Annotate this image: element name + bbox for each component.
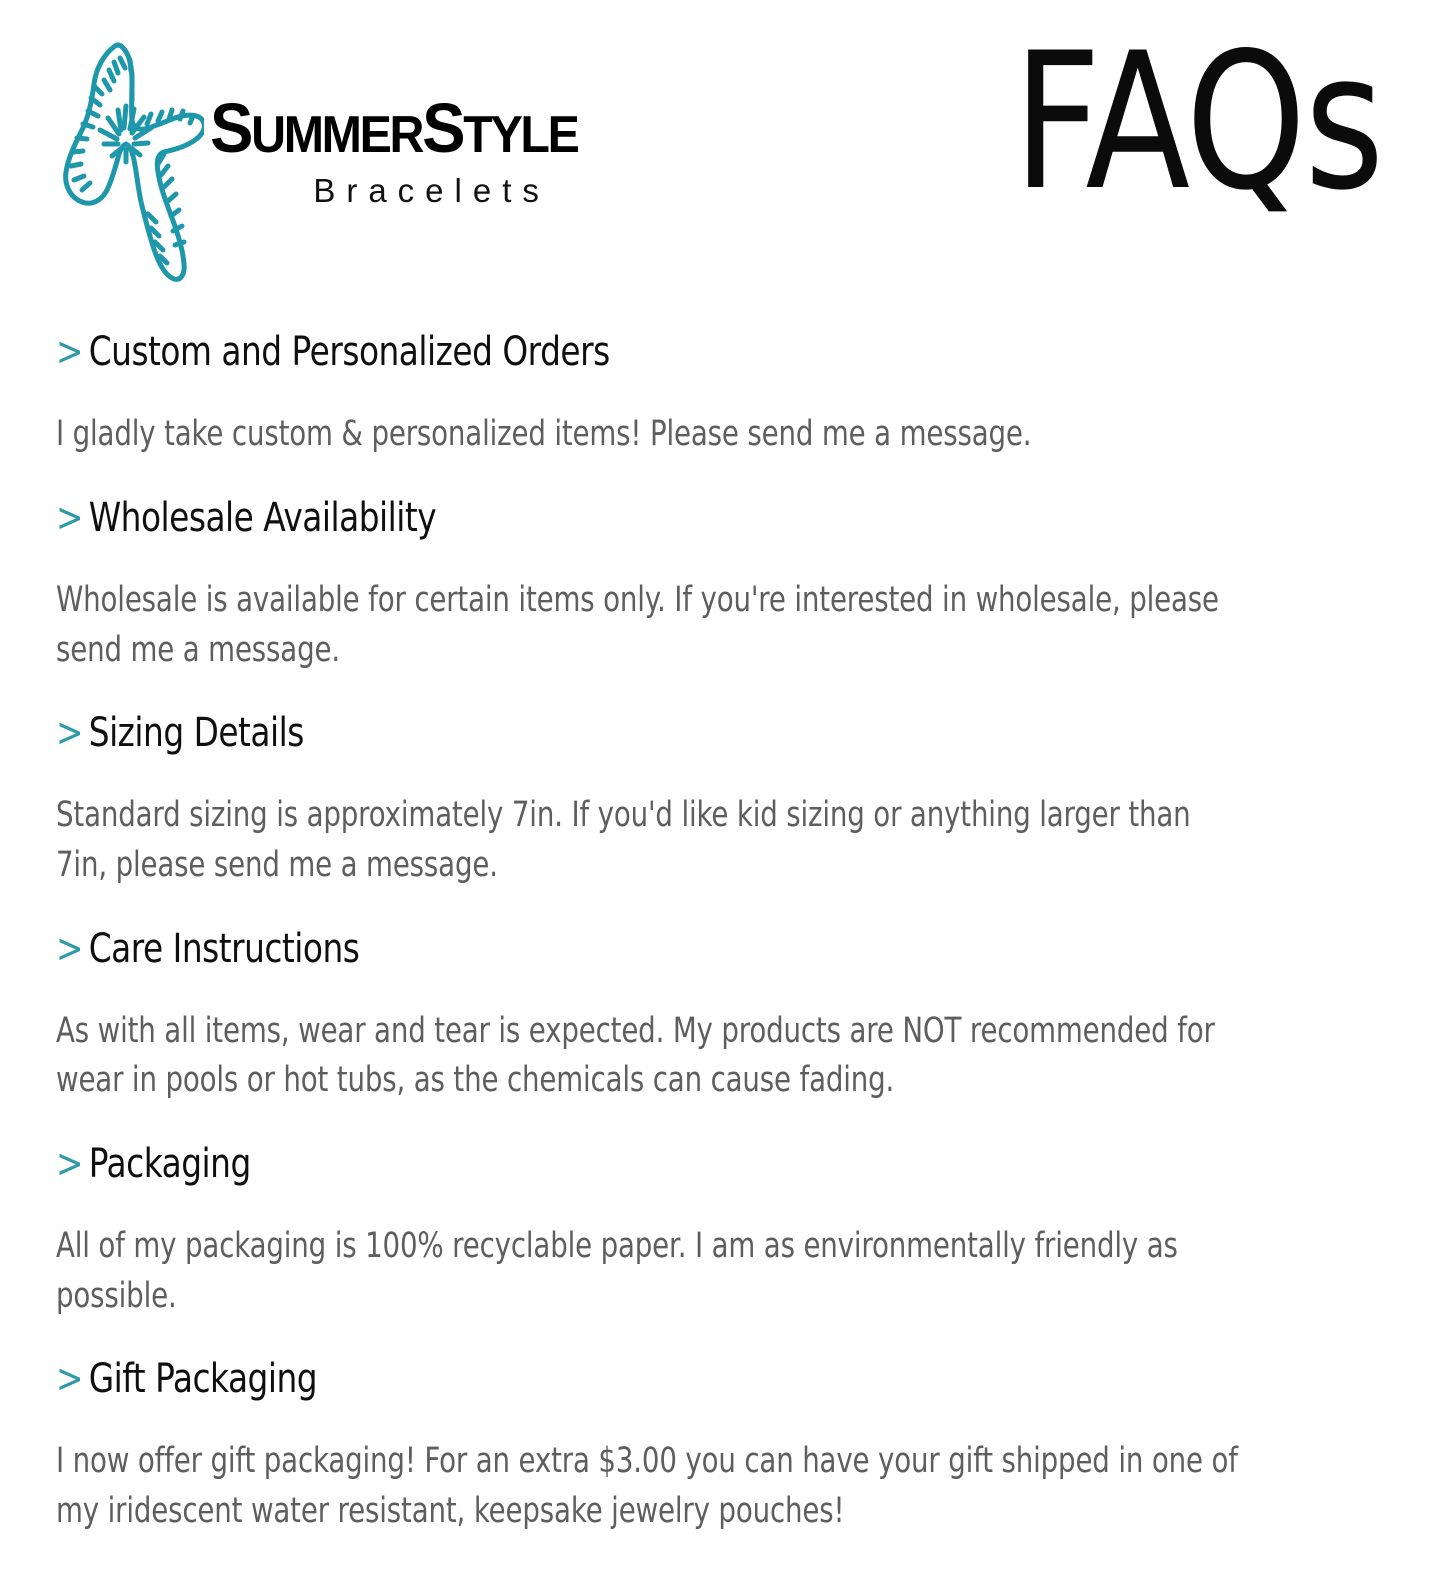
brand-logo: SUMMERSTYLE Bracelets (52, 18, 605, 286)
faq-item-care-instructions[interactable]: >Care Instructions As with all items, we… (56, 926, 1246, 1106)
brand-name: SUMMERSTYLE (210, 96, 578, 160)
faq-heading-label: Care Instructions (89, 926, 360, 972)
faq-heading-label: Gift Packaging (89, 1356, 317, 1402)
chevron-right-icon: > (56, 1141, 89, 1187)
faq-heading[interactable]: >Gift Packaging (56, 1356, 1032, 1402)
faq-item-packaging[interactable]: >Packaging All of my packaging is 100% r… (56, 1141, 1246, 1321)
faq-body: All of my packaging is 100% recyclable p… (56, 1222, 1245, 1321)
chevron-right-icon: > (56, 495, 89, 541)
faq-item-custom-and-personalized-orders[interactable]: >Custom and Personalized Orders I gladly… (56, 329, 1246, 460)
faq-body: Standard sizing is approximately 7in. If… (56, 791, 1245, 890)
faq-heading[interactable]: >Wholesale Availability (56, 495, 1032, 541)
faq-body: I gladly take custom & personalized item… (56, 410, 1245, 460)
chevron-right-icon: > (56, 710, 89, 756)
faq-list: >Custom and Personalized Orders I gladly… (56, 296, 1246, 1572)
faq-body: As with all items, wear and tear is expe… (56, 1007, 1245, 1106)
page-header: SUMMERSTYLE Bracelets FAQs (0, 0, 1445, 286)
starfish-icon (52, 24, 204, 286)
faq-item-wholesale-availability[interactable]: >Wholesale Availability Wholesale is ava… (56, 495, 1246, 675)
faq-heading[interactable]: >Care Instructions (56, 926, 1032, 972)
faq-item-gift-packaging[interactable]: >Gift Packaging I now offer gift packagi… (56, 1356, 1246, 1536)
faq-heading-label: Sizing Details (89, 710, 304, 756)
chevron-right-icon: > (56, 926, 89, 972)
faq-body: I now offer gift packaging! For an extra… (56, 1437, 1245, 1536)
faq-heading[interactable]: >Packaging (56, 1141, 1032, 1187)
faq-item-sizing-details[interactable]: >Sizing Details Standard sizing is appro… (56, 710, 1246, 890)
chevron-right-icon: > (56, 1356, 89, 1402)
faq-body: Wholesale is available for certain items… (56, 576, 1245, 675)
chevron-right-icon: > (56, 329, 89, 375)
faq-heading[interactable]: >Sizing Details (56, 710, 1032, 756)
page-title: FAQs (1014, 28, 1383, 217)
faq-page: SUMMERSTYLE Bracelets FAQs >Custom and P… (0, 0, 1445, 1445)
faq-heading[interactable]: >Custom and Personalized Orders (56, 329, 1032, 375)
faq-heading-label: Custom and Personalized Orders (89, 329, 610, 375)
faq-heading-label: Wholesale Availability (89, 495, 436, 541)
faq-heading-label: Packaging (89, 1141, 251, 1187)
brand-wordmark: SUMMERSTYLE Bracelets (210, 96, 605, 210)
brand-tagline: Bracelets (313, 172, 550, 210)
